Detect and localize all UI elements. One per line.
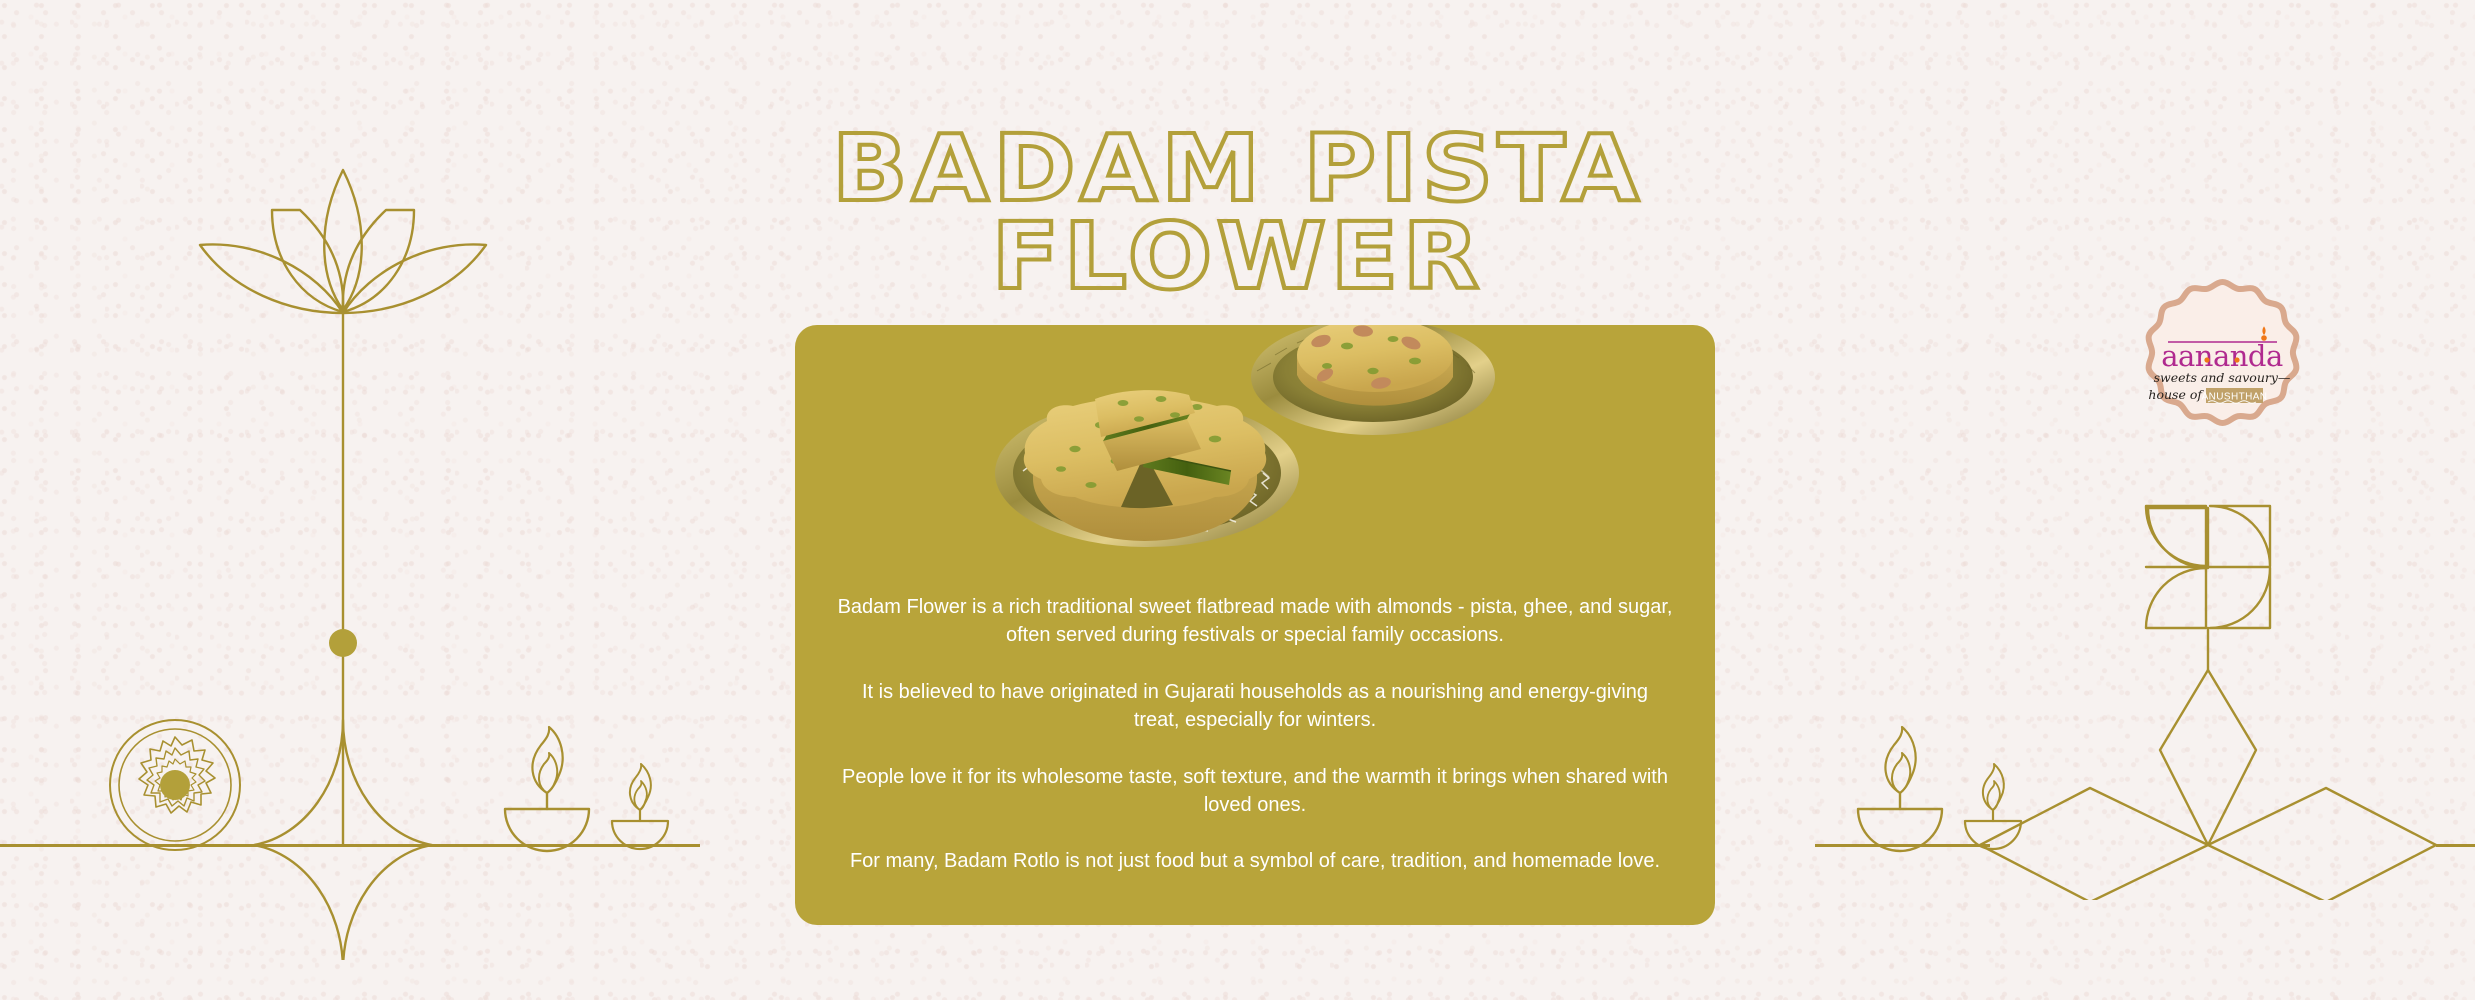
title-line-2: FLOWER xyxy=(0,213,2475,301)
paragraph-1: Badam Flower is a rich traditional sweet… xyxy=(837,593,1673,650)
diamond-lotus-motif xyxy=(1980,670,2436,900)
baseline-right-inner xyxy=(1815,844,1990,847)
dish-photo-container xyxy=(795,325,1715,581)
diya-lamp-small xyxy=(612,764,668,849)
diya-lamp-large xyxy=(505,727,589,851)
diya-lamp-small xyxy=(1965,764,2021,849)
title-line-1: BADAM PISTA xyxy=(0,125,2475,213)
content-card: Badam Flower is a rich traditional sweet… xyxy=(795,325,1715,925)
back-plate xyxy=(1251,325,1495,435)
left-decoration-group xyxy=(0,60,700,960)
description-paragraphs: Badam Flower is a rich traditional sweet… xyxy=(837,593,1673,876)
paragraph-4: For many, Badam Rotlo is not just food b… xyxy=(837,847,1673,875)
stem-dot xyxy=(329,629,357,657)
baseline-left xyxy=(0,844,700,847)
house-of-label: house of xyxy=(2148,387,2204,402)
front-plate xyxy=(995,390,1299,547)
lotus-flower-outline xyxy=(200,170,486,313)
right-decoration-group xyxy=(1790,440,2475,900)
quatrefoil-flower-outline xyxy=(2146,506,2270,628)
diya-lamp-large xyxy=(1858,727,1942,851)
four-point-concave-star xyxy=(254,720,432,960)
brand-tagline: sweets and savoury— xyxy=(2154,370,2291,385)
brand-wordmark: aananda xyxy=(2161,339,2283,373)
mandala-circle xyxy=(110,720,240,850)
dish-photo xyxy=(975,325,1535,581)
brand-logo-badge[interactable]: aananda sweets and savoury— house of ANU… xyxy=(2140,278,2305,443)
baseline-right-outer xyxy=(2436,844,2475,847)
paragraph-2: It is believed to have originated in Guj… xyxy=(837,678,1673,735)
page-title: BADAM PISTA FLOWER xyxy=(0,125,2475,302)
paragraph-3: People love it for its wholesome taste, … xyxy=(837,763,1673,820)
